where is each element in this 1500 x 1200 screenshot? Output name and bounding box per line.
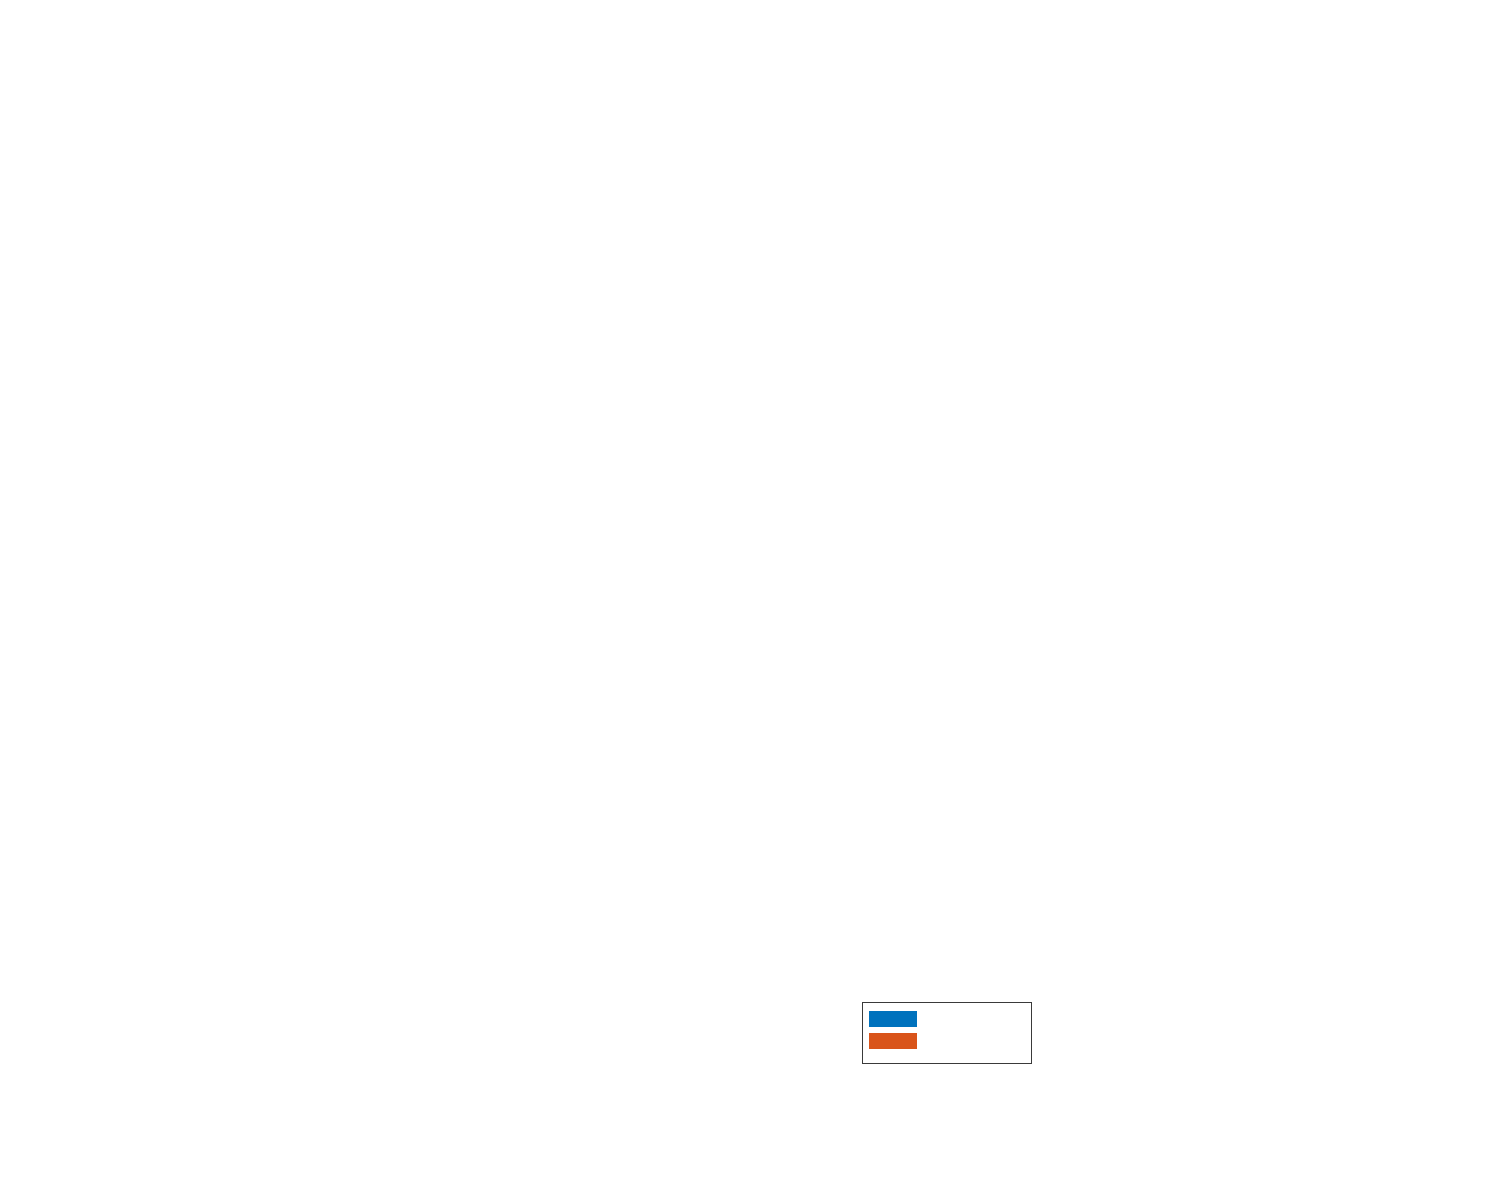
panel-ascent-pump-series: [0, 0, 740, 1200]
ascent-plot-area: [193, 88, 688, 1070]
pump-time-legend: [862, 1002, 1032, 1064]
legend-row-pumpt-lo: [869, 1008, 1023, 1030]
energy-plot-area: [855, 90, 1360, 352]
panel-pump-time: [740, 760, 1500, 1160]
legend-swatch-pumpt-hi: [869, 1033, 917, 1049]
legend-row-pumpt-hi: [869, 1030, 1023, 1052]
pumps-plot-area: [855, 456, 1360, 721]
legend-swatch-pumpt-lo: [869, 1011, 917, 1027]
figure-canvas: [0, 0, 1500, 1200]
panel-pump-energy: [740, 0, 1500, 400]
panel-number-of-pumps: [740, 400, 1500, 760]
